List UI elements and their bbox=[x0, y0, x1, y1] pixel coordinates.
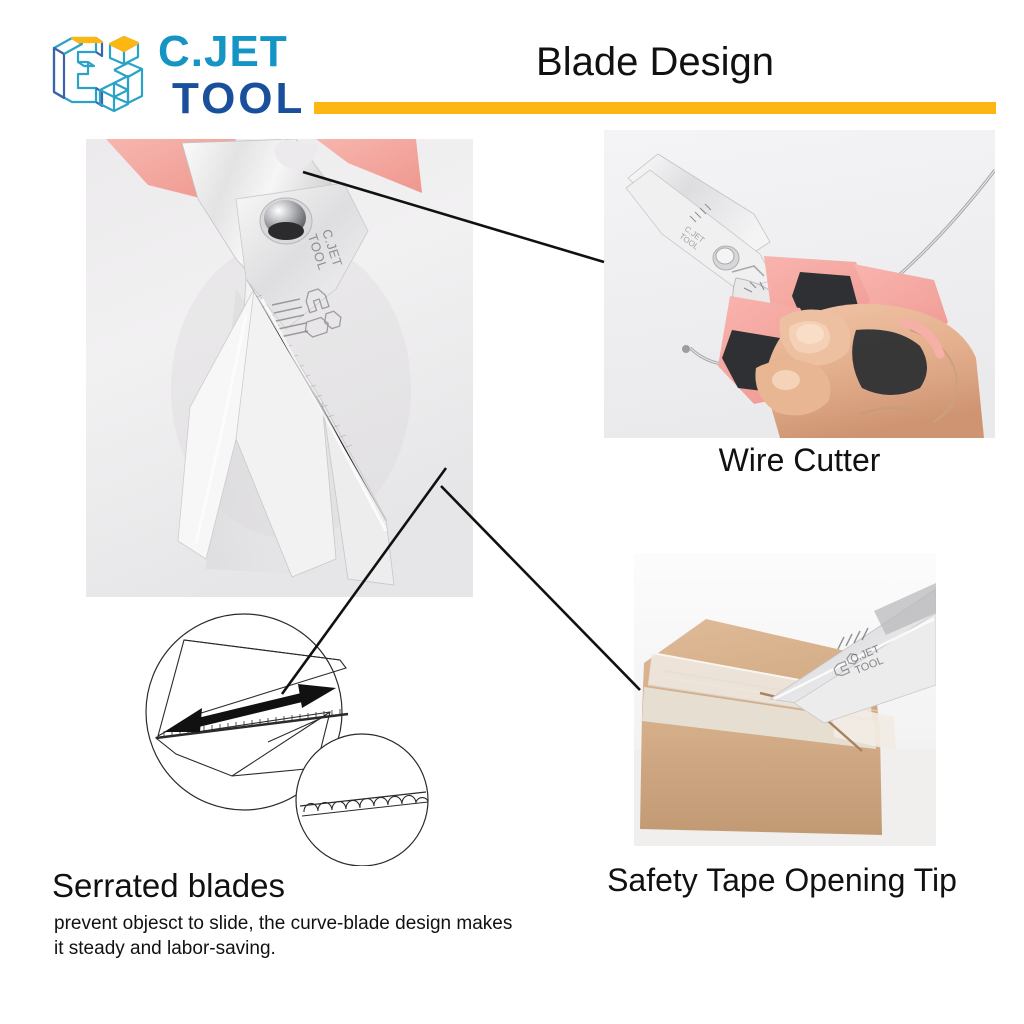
title-underline-rule bbox=[314, 102, 996, 114]
photo-main-shears: C.JET TOOL bbox=[86, 139, 473, 597]
diagram-serrated-blades bbox=[140, 604, 440, 866]
caption-wire-cutter: Wire Cutter bbox=[604, 441, 995, 479]
caption-serrated-body: prevent objesct to slide, the curve-blad… bbox=[54, 911, 524, 961]
photo-tape-opening: C.JET TOOL bbox=[634, 553, 936, 846]
photo-main-illustration: C.JET TOOL bbox=[86, 139, 473, 597]
thumbnail bbox=[796, 324, 824, 344]
serrated-diagram-illustration bbox=[140, 604, 440, 866]
page-title: Blade Design bbox=[314, 38, 996, 86]
photo-wire-illustration: C.JET TOOL bbox=[604, 130, 995, 438]
diagram-magnifier-circle bbox=[296, 734, 428, 866]
infographic-page: C.JET TOOL Blade Design bbox=[0, 0, 1024, 1024]
caption-tape-opening: Safety Tape Opening Tip bbox=[540, 861, 1024, 899]
photo-wire-cutter: C.JET TOOL bbox=[604, 130, 995, 438]
brand-logo: C.JET TOOL bbox=[44, 26, 294, 122]
photo-tape-illustration: C.JET TOOL bbox=[634, 553, 936, 846]
cjet-isometric-monogram-icon bbox=[44, 26, 154, 122]
caption-serrated-title: Serrated blades bbox=[52, 866, 522, 906]
